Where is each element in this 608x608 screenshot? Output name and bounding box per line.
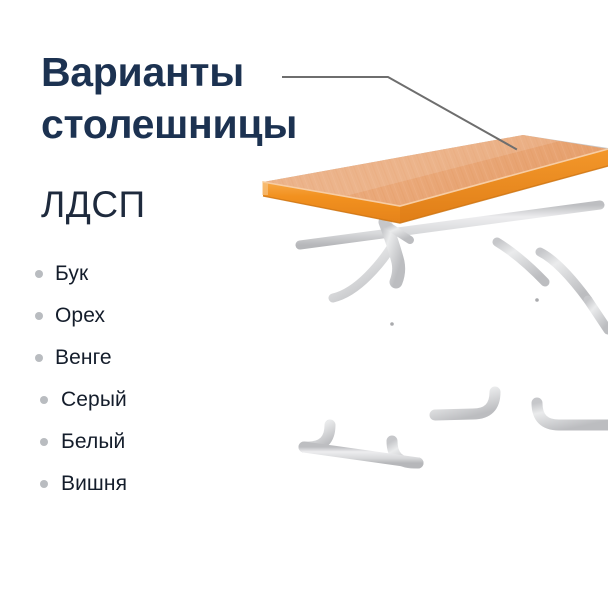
bullet-icon: [40, 396, 48, 404]
list-item[interactable]: Орех: [0, 295, 240, 337]
leg-foot-mid-back: [435, 392, 495, 415]
table-edge-tip-highlight: [262, 181, 268, 195]
leg-foot-far-right: [537, 403, 608, 425]
bullet-icon: [35, 354, 43, 362]
bullet-icon: [35, 312, 43, 320]
table-legs: [300, 205, 608, 463]
list-item[interactable]: Бук: [0, 253, 240, 295]
leg-brace-front: [333, 246, 392, 298]
leg-brace-far-right: [540, 252, 588, 300]
section-heading-ldsp: ЛДСП: [41, 186, 146, 223]
bullet-icon: [35, 270, 43, 278]
list-item[interactable]: Серый: [0, 379, 240, 421]
product-info-card: Варианты столешницы ЛДСП Бук Орех Венге …: [0, 0, 608, 608]
hinge-rivet: [390, 322, 394, 326]
finish-options-list: Бук Орех Венге Серый Белый Вишня: [0, 253, 240, 505]
hinge-rivet-far: [535, 298, 539, 302]
option-label: Вишня: [0, 463, 240, 505]
list-item[interactable]: Вишня: [0, 463, 240, 505]
bullet-icon: [40, 480, 48, 488]
option-label: Белый: [0, 421, 240, 463]
bullet-icon: [40, 438, 48, 446]
option-label: Серый: [0, 379, 240, 421]
page-title: Варианты столешницы: [41, 46, 341, 150]
list-item[interactable]: Белый: [0, 421, 240, 463]
list-item[interactable]: Венге: [0, 337, 240, 379]
